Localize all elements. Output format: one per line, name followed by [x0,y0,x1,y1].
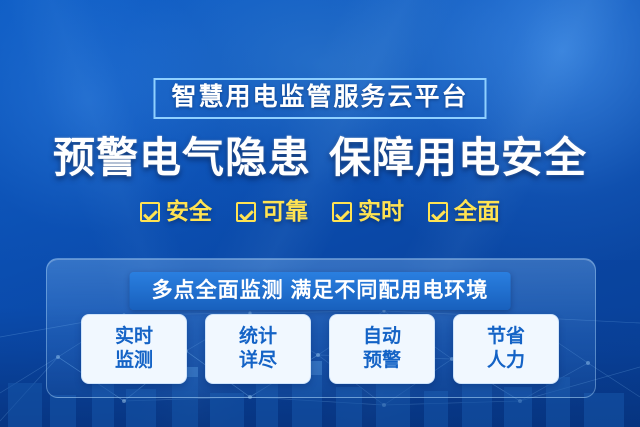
feature-card-line1: 自动 [363,325,401,349]
headline: 预警电气隐患保障用电安全 [53,137,587,179]
feature-card-line2: 人力 [487,349,525,373]
feature-tick-item: 实时 [332,200,404,223]
poster-content: 智慧用电监管服务云平台 预警电气隐患保障用电安全 安全 可靠 实时 全面 [0,0,640,427]
feature-card-row: 实时 监测 统计 详尽 自动 预警 节省 人力 [81,314,559,384]
feature-tick-row: 安全 可靠 实时 全面 [140,200,500,223]
feature-tick-item: 可靠 [236,200,308,223]
headline-right: 保障用电安全 [329,134,587,181]
feature-card: 节省 人力 [453,314,559,384]
feature-card-line1: 节省 [487,325,525,349]
check-box-icon [236,202,256,222]
feature-tick-item: 安全 [140,200,212,223]
check-box-icon [140,202,160,222]
feature-card-line1: 统计 [239,325,277,349]
feature-card: 统计 详尽 [205,314,311,384]
panel-title-banner: 多点全面监测 满足不同配用电环境 [130,272,511,310]
feature-card-line1: 实时 [115,325,153,349]
feature-tick-label: 全面 [454,200,500,223]
feature-card: 自动 预警 [329,314,435,384]
feature-card: 实时 监测 [81,314,187,384]
feature-card-line2: 详尽 [239,349,277,373]
feature-tick-item: 全面 [428,200,500,223]
poster-canvas: 智慧用电监管服务云平台 预警电气隐患保障用电安全 安全 可靠 实时 全面 [0,0,640,427]
feature-card-line2: 监测 [115,349,153,373]
check-box-icon [332,202,352,222]
feature-tick-label: 安全 [166,200,212,223]
feature-card-line2: 预警 [363,349,401,373]
feature-tick-label: 可靠 [262,200,308,223]
headline-left: 预警电气隐患 [53,134,311,181]
platform-badge-title: 智慧用电监管服务云平台 [153,78,486,119]
check-box-icon [428,202,448,222]
feature-tick-label: 实时 [358,200,404,223]
